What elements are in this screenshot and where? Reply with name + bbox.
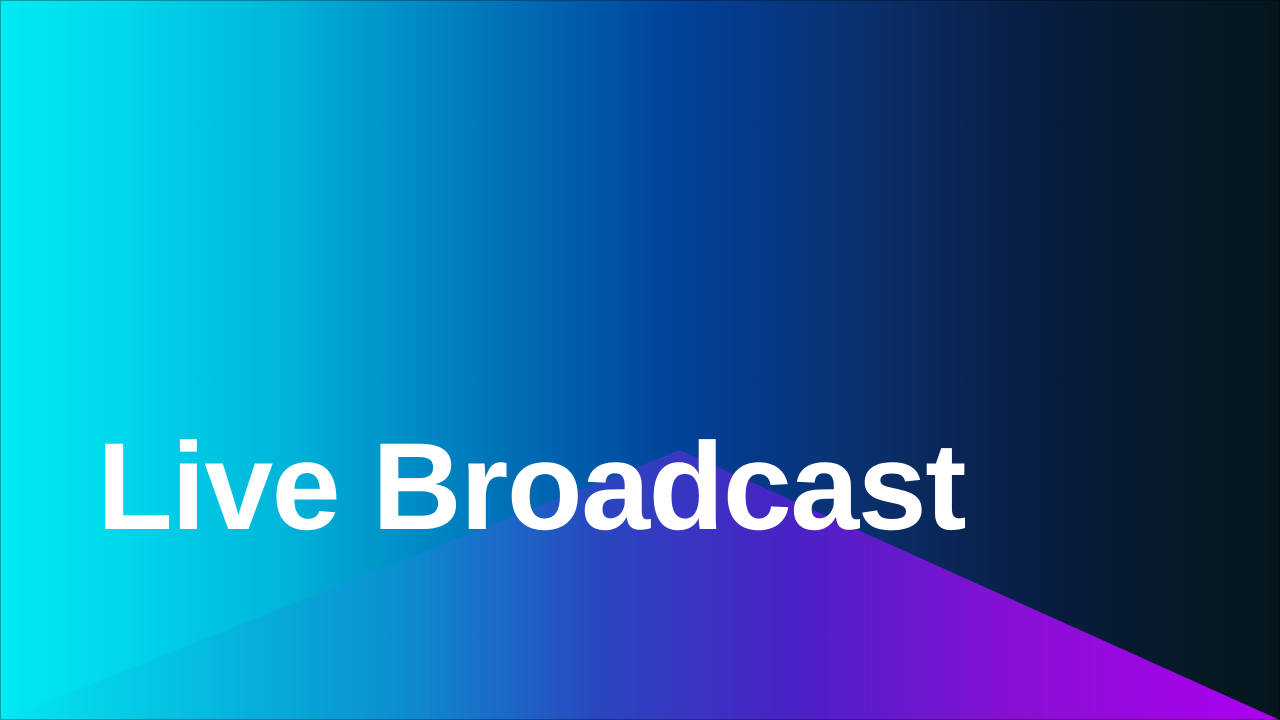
slide-headline: Live Broadcast Within the Metaverse	[97, 155, 965, 720]
title-slide: Live Broadcast Within the Metaverse	[0, 0, 1280, 720]
headline-line-1: Live Broadcast	[97, 421, 965, 554]
